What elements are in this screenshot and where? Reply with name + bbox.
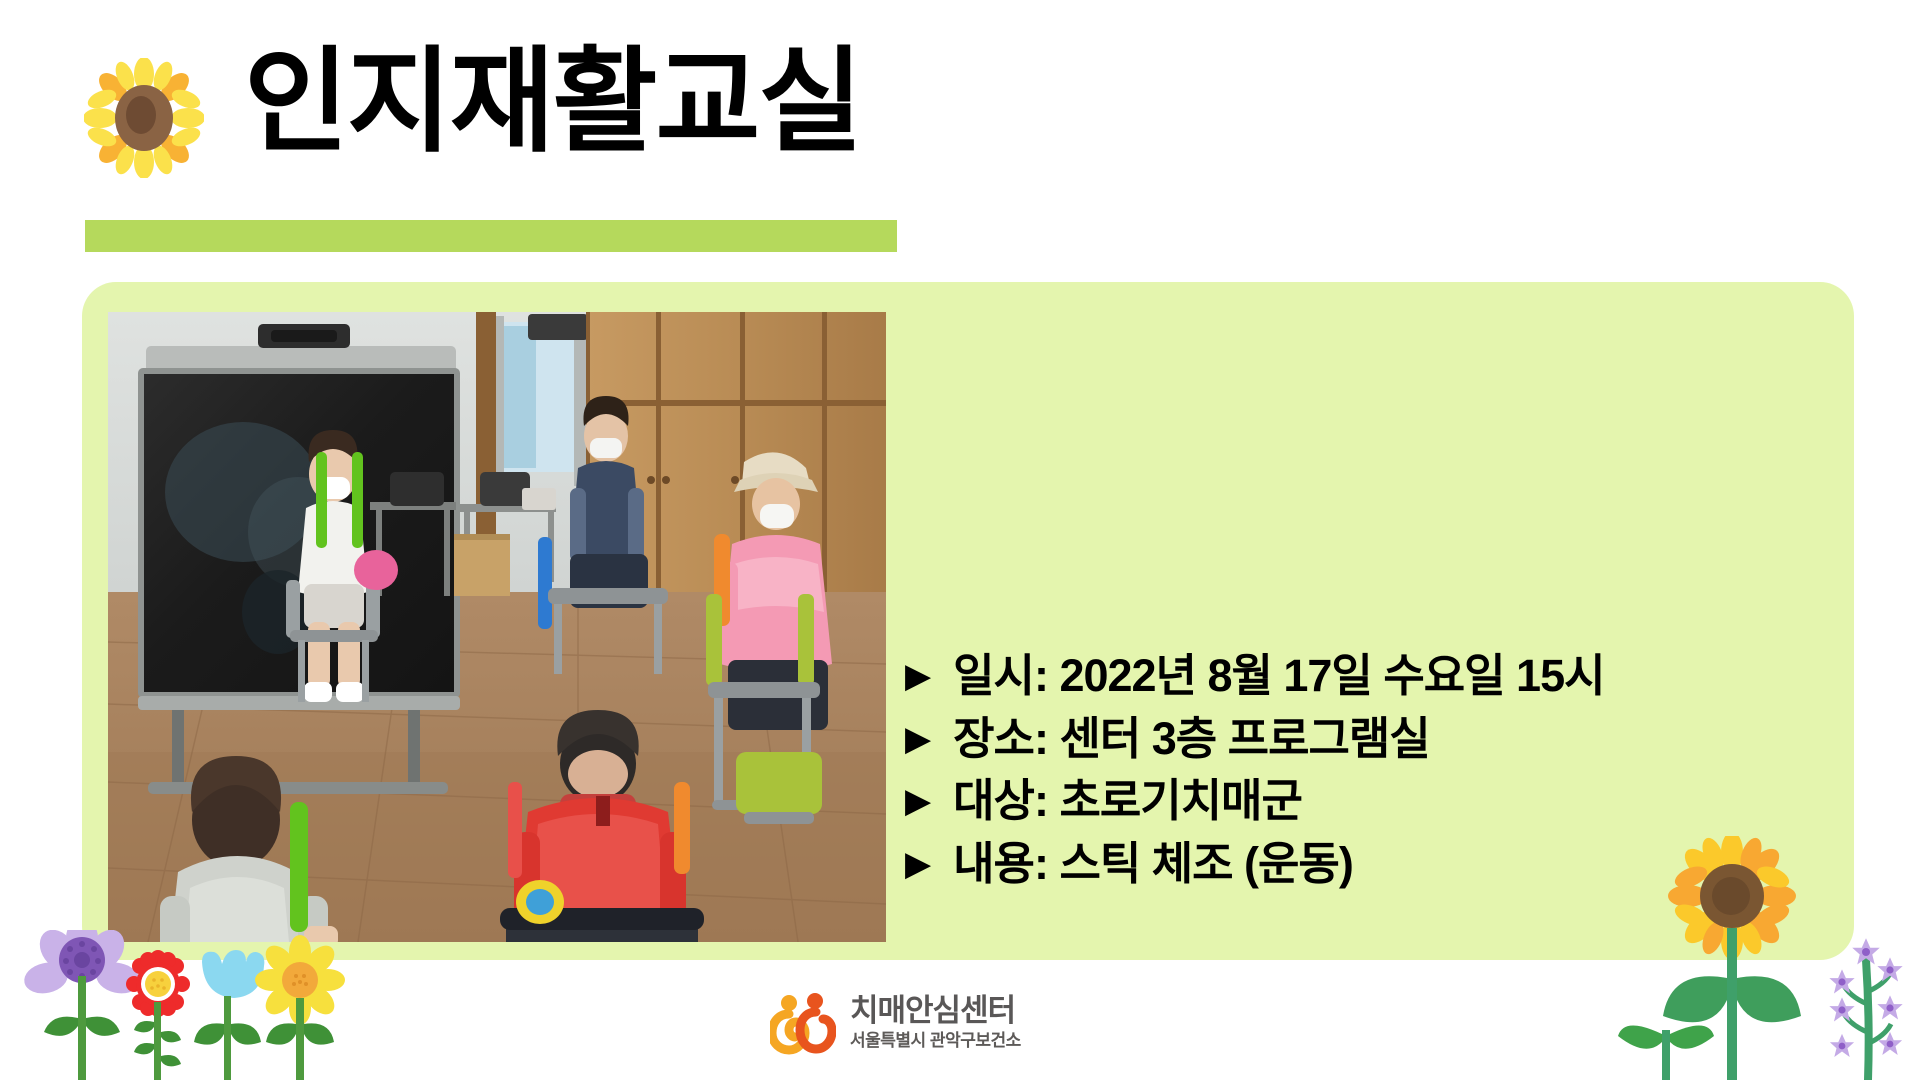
triangle-bullet-icon: ▶	[905, 784, 931, 818]
title-accent-bar	[85, 220, 897, 252]
logo-subtitle: 서울특별시 관악구보건소	[850, 1032, 1021, 1051]
detail-target: 대상: 초로기치매군	[953, 777, 1302, 826]
detail-schedule: 일시: 2022년 8월 17일 수요일 15시	[953, 652, 1604, 701]
organization-logo: 치매안심센터 서울특별시 관악구보건소	[770, 980, 1070, 1066]
page-title: 인지재활교실	[244, 46, 861, 160]
slide-header: 인지재활교실	[0, 0, 1920, 270]
list-item: ▶ 대상: 초로기치매군	[905, 777, 1805, 826]
left-flower-decoration	[18, 930, 358, 1080]
slide-canvas: 인지재활교실	[0, 0, 1920, 1080]
list-item: ▶ 장소: 센터 3층 프로그램실	[905, 715, 1805, 764]
triangle-bullet-icon: ▶	[905, 722, 931, 756]
detail-location: 장소: 센터 3층 프로그램실	[953, 715, 1430, 764]
logo-title: 치매안심센터	[850, 995, 1021, 1028]
sunflower-icon	[84, 58, 204, 178]
triangle-bullet-icon: ▶	[905, 847, 931, 881]
two-people-logo-icon	[770, 990, 836, 1056]
triangle-bullet-icon: ▶	[905, 659, 931, 693]
logo-text-block: 치매안심센터 서울특별시 관악구보건소	[850, 995, 1021, 1050]
program-photo	[108, 312, 886, 942]
right-flower-decoration	[1618, 836, 1920, 1080]
detail-content: 내용: 스틱 체조 (운동)	[953, 840, 1353, 889]
list-item: ▶ 일시: 2022년 8월 17일 수요일 15시	[905, 652, 1805, 701]
